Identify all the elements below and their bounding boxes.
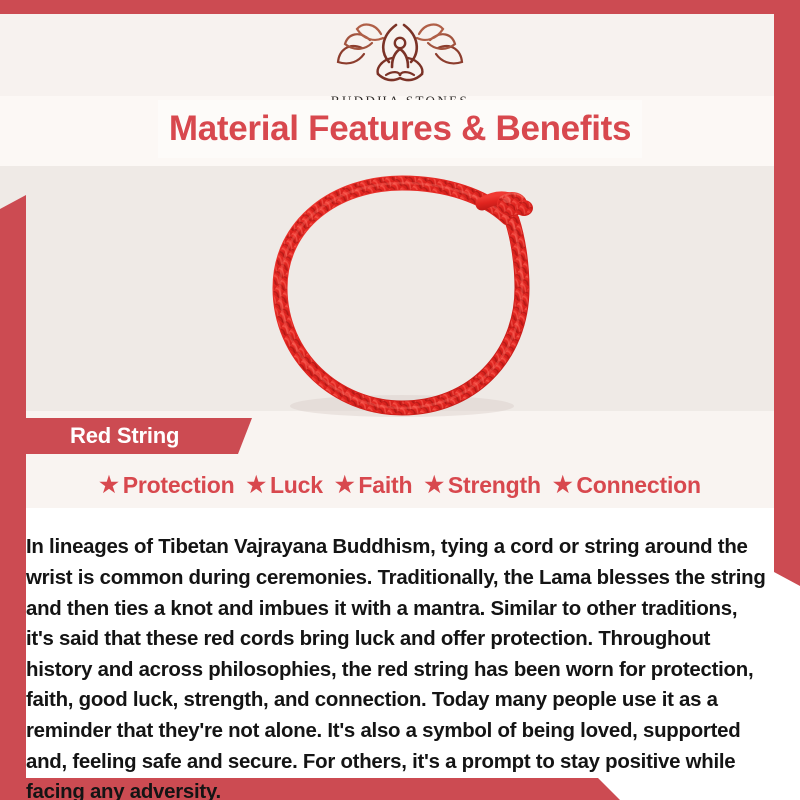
feature-luck: ★ Luck	[246, 472, 322, 499]
feature-faith: ★ Faith	[335, 472, 412, 499]
feature-protection: ★ Protection	[99, 472, 234, 499]
star-icon: ★	[246, 474, 266, 496]
star-icon: ★	[335, 474, 355, 496]
decoration-top-red-bar	[0, 0, 800, 14]
product-photo	[250, 168, 570, 430]
feature-label: Luck	[270, 472, 323, 499]
feature-label: Faith	[358, 472, 412, 499]
brand-logo: BUDDHA STONES	[0, 18, 800, 109]
feature-connection: ★ Connection	[553, 472, 701, 499]
feature-label: Connection	[576, 472, 701, 499]
description-paragraph: In lineages of Tibetan Vajrayana Buddhis…	[26, 532, 770, 800]
feature-label: Strength	[448, 472, 541, 499]
page-title: Material Features & Benefits	[0, 101, 800, 157]
star-icon: ★	[553, 474, 573, 496]
star-icon: ★	[424, 474, 444, 496]
red-braided-string-bracelet-photo	[250, 168, 570, 430]
product-name-label: Red String	[70, 418, 179, 454]
features-row: ★ Protection ★ Luck ★ Faith ★ Strength ★…	[0, 466, 800, 504]
feature-strength: ★ Strength	[424, 472, 540, 499]
lotus-meditation-icon	[326, 18, 474, 90]
star-icon: ★	[99, 474, 119, 496]
infographic-card: BUDDHA STONES Material Features & Benefi…	[0, 0, 800, 800]
feature-label: Protection	[123, 472, 235, 499]
